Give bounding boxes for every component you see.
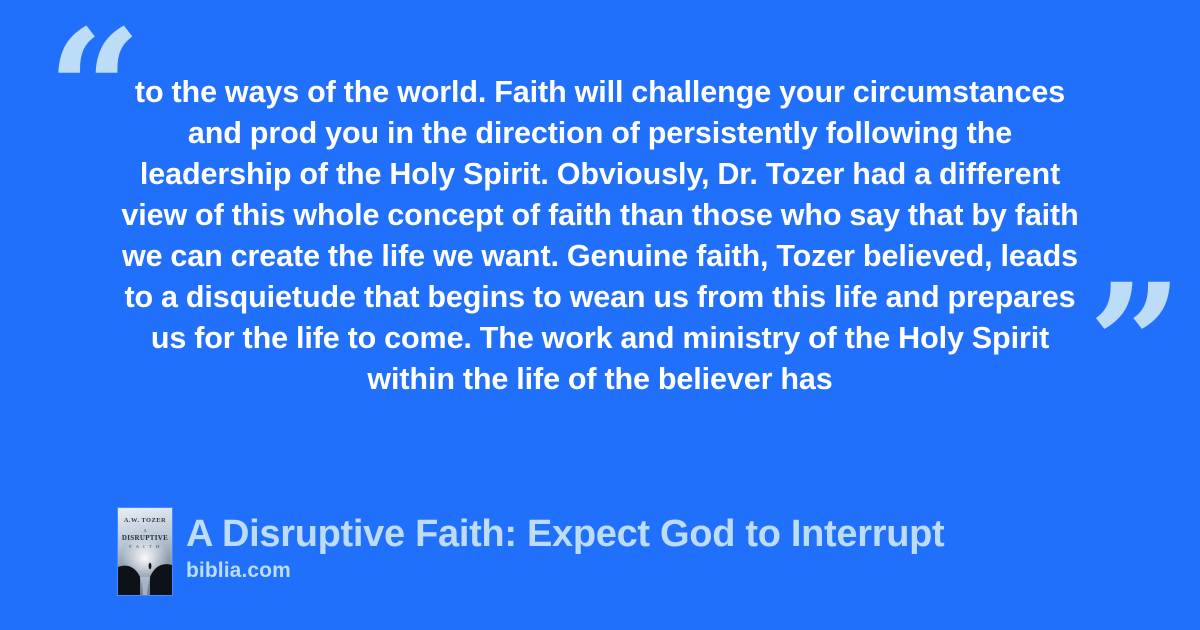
attribution-footer: A.W. TOZER A DISRUPTIVE F A I T H A Disr… (118, 508, 944, 595)
quote-body: to the ways of the world. Faith will cha… (112, 72, 1088, 400)
book-cover-subtitle: F A I T H (118, 544, 172, 549)
close-quote-icon: ” (1088, 262, 1183, 427)
quote-card: “ to the ways of the world. Faith will c… (0, 0, 1200, 630)
book-cover-artwork (118, 553, 172, 595)
book-cover-thumbnail: A.W. TOZER A DISRUPTIVE F A I T H (118, 508, 172, 595)
book-cover-article: A (118, 528, 172, 533)
book-cover-title: DISRUPTIVE (118, 534, 172, 542)
footer-text-group: A Disruptive Faith: Expect God to Interr… (186, 508, 944, 584)
source-label: biblia.com (186, 558, 944, 584)
book-cover-author: A.W. TOZER (118, 517, 172, 524)
quote-text: to the ways of the world. Faith will cha… (112, 72, 1088, 400)
book-title: A Disruptive Faith: Expect God to Interr… (186, 512, 944, 556)
